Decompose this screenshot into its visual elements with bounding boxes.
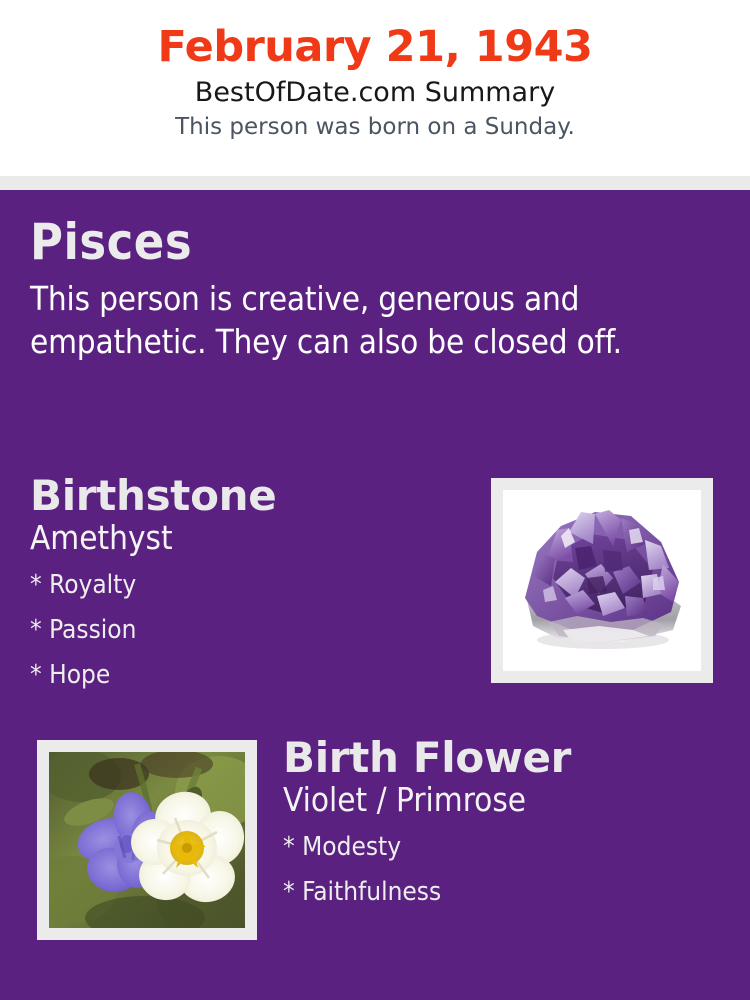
birthstone-trait-list: * Royalty * Passion * Hope: [30, 557, 470, 698]
zodiac-description: This person is creative, generous and em…: [30, 269, 700, 365]
header-divider: [0, 176, 750, 190]
birthstone-heading: Birthstone: [30, 473, 470, 518]
birth-flower-image: [49, 752, 245, 928]
birthstone-image: [503, 490, 701, 671]
zodiac-sign-title: Pisces: [30, 216, 720, 269]
list-item: * Passion: [30, 608, 470, 653]
zodiac-block: Pisces This person is creative, generous…: [30, 216, 720, 364]
list-item: * Faithfulness: [283, 870, 733, 915]
birthstone-name: Amethyst: [30, 518, 470, 557]
birth-flower-trait-list: * Modesty * Faithfulness: [283, 819, 733, 915]
flower-svg: [49, 752, 245, 928]
summary-panel: Pisces This person is creative, generous…: [0, 190, 750, 1000]
birth-flower-block: Birth Flower Violet / Primrose * Modesty…: [283, 735, 733, 915]
birthstone-image-frame: [491, 478, 713, 683]
violet-primrose-flower-icon: [49, 752, 245, 928]
list-item: * Modesty: [283, 825, 733, 870]
site-summary-label: BestOfDate.com Summary: [0, 70, 750, 108]
birth-flower-heading: Birth Flower: [283, 735, 733, 780]
birth-flower-image-frame: [37, 740, 257, 940]
amethyst-svg: [503, 490, 701, 671]
list-item: * Hope: [30, 653, 470, 698]
birth-day-note: This person was born on a Sunday.: [0, 108, 750, 140]
page-header: February 21, 1943 BestOfDate.com Summary…: [0, 0, 750, 176]
birth-flower-name: Violet / Primrose: [283, 780, 733, 819]
birthstone-block: Birthstone Amethyst * Royalty * Passion …: [30, 473, 470, 698]
list-item: * Royalty: [30, 563, 470, 608]
amethyst-crystal-icon: [503, 490, 701, 671]
page-title-date: February 21, 1943: [0, 0, 750, 70]
